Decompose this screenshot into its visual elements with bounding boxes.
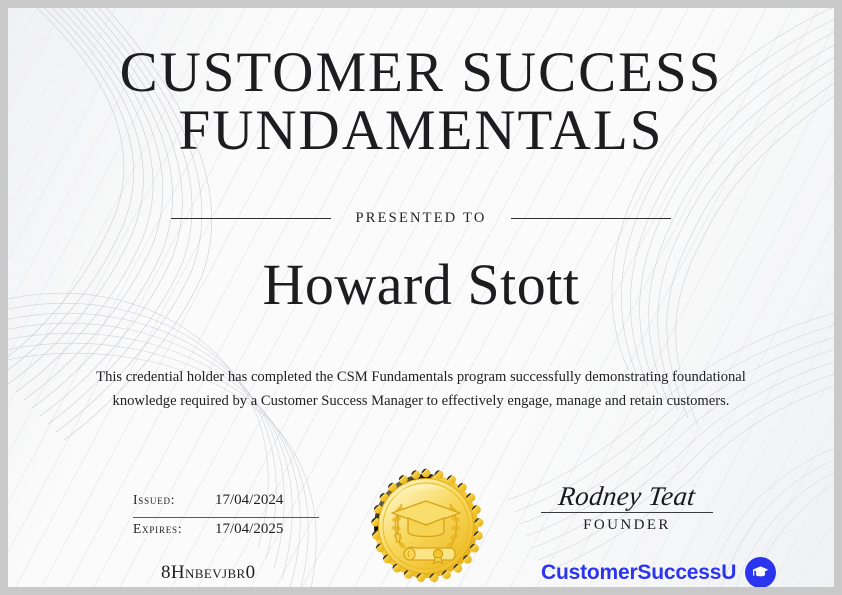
title-line-1: CUSTOMER SUCCESS (8, 44, 834, 102)
signature-rule (541, 512, 713, 513)
issued-row: Issued: 17/04/2024 (133, 492, 323, 515)
presented-rule-left (171, 218, 331, 219)
signature-role: FOUNDER (541, 517, 713, 534)
issued-value: 17/04/2024 (215, 492, 283, 509)
certificate-body-text: This credential holder has completed the… (83, 366, 759, 413)
expires-value: 17/04/2025 (215, 521, 283, 538)
presented-rule-right (511, 218, 671, 219)
presented-to-row: PRESENTED TO (8, 210, 834, 227)
graduation-cap-icon (751, 563, 770, 582)
signature-name: Rodney Teat (539, 482, 714, 510)
credential-id: 8Hnbevjbr0 (161, 562, 256, 584)
expires-row: Expires: 17/04/2025 (133, 521, 323, 544)
gold-seal-graduation-icon (368, 468, 484, 584)
brand-logo[interactable]: CustomerSuccessU (541, 557, 776, 587)
presented-to-label: PRESENTED TO (355, 210, 486, 227)
certificate-card: CUSTOMER SUCCESS FUNDAMENTALS PRESENTED … (8, 8, 834, 587)
recipient-name: Howard Stott (8, 251, 834, 318)
title-line-2: FUNDAMENTALS (8, 102, 834, 160)
certificate-page: CUSTOMER SUCCESS FUNDAMENTALS PRESENTED … (0, 0, 842, 595)
expires-label: Expires: (133, 521, 215, 537)
certificate-title: CUSTOMER SUCCESS FUNDAMENTALS (8, 44, 834, 160)
brand-name: CustomerSuccessU (541, 561, 736, 585)
signature-block: Rodney Teat FOUNDER (541, 482, 713, 534)
brand-badge (745, 557, 776, 587)
dates-block: Issued: 17/04/2024 Expires: 17/04/2025 (133, 492, 323, 544)
dates-divider (133, 517, 319, 518)
issued-label: Issued: (133, 492, 215, 508)
